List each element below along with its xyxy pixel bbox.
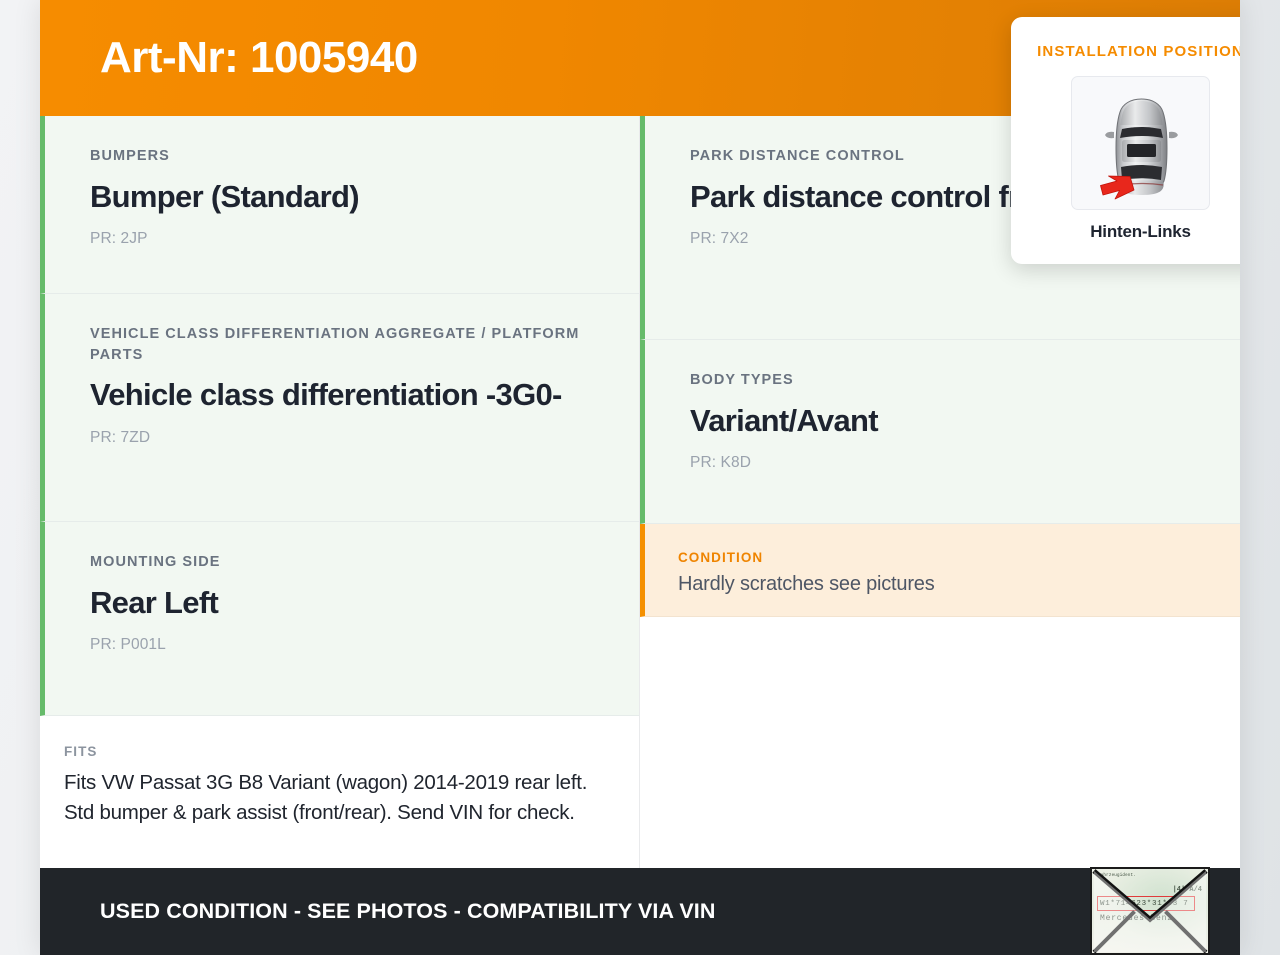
- spec-label: VEHICLE CLASS DIFFERENTIATION AGGREGATE …: [90, 324, 611, 365]
- listing-panel: Art-Nr: 1005940 BUMPERS Bumper (Standard…: [40, 0, 1240, 955]
- car-top-view-icon: [1072, 77, 1211, 211]
- condition-text: Hardly scratches see pictures: [678, 573, 1212, 596]
- fits-text: Fits VW Passat 3G B8 Variant (wagon) 201…: [64, 768, 599, 829]
- spec-value: Bumper (Standard): [90, 176, 611, 219]
- installation-position-caption: Hinten-Links: [1090, 222, 1191, 242]
- condition-card: CONDITION Hardly scratches see pictures: [640, 524, 1240, 617]
- spec-pr-code: PR: K8D: [690, 454, 1212, 472]
- spec-card-mounting-side: MOUNTING SIDE Rear Left PR: P001L: [40, 522, 639, 716]
- spec-column-left: BUMPERS Bumper (Standard) PR: 2JP VEHICL…: [40, 116, 640, 868]
- condition-label: CONDITION: [678, 550, 1212, 565]
- envelope-icon: [1092, 869, 1208, 954]
- left-column-filler: [40, 859, 639, 868]
- footer-text: USED CONDITION - SEE PHOTOS - COMPATIBIL…: [40, 899, 716, 924]
- footer-bar: USED CONDITION - SEE PHOTOS - COMPATIBIL…: [40, 868, 1240, 955]
- installation-position-card[interactable]: INSTALLATION POSITION: [1011, 17, 1240, 264]
- vehicle-document-thumbnail[interactable]: Fahrzeugident. |4| A/4 W1*714623*31*03 7…: [1090, 867, 1210, 955]
- spec-value: Rear Left: [90, 582, 611, 625]
- spec-value: Variant/Avant: [690, 400, 1212, 443]
- spec-card-bumpers: BUMPERS Bumper (Standard) PR: 2JP: [40, 116, 639, 294]
- spec-label: MOUNTING SIDE: [90, 552, 611, 573]
- spec-card-body-types: BODY TYPES Variant/Avant PR: K8D: [640, 340, 1240, 524]
- red-arrow-icon: [1101, 176, 1135, 199]
- spec-pr-code: PR: 2JP: [90, 230, 611, 248]
- spec-value: Vehicle class differentiation -3G0-: [90, 374, 611, 417]
- spec-pr-code: PR: 7ZD: [90, 429, 611, 447]
- right-column-filler: [640, 617, 1240, 868]
- spec-label: BUMPERS: [90, 146, 611, 167]
- page-title: Art-Nr: 1005940: [40, 36, 418, 80]
- installation-position-title: INSTALLATION POSITION: [1037, 43, 1240, 60]
- spec-card-vehicle-class: VEHICLE CLASS DIFFERENTIATION AGGREGATE …: [40, 294, 639, 522]
- fits-section: FITS Fits VW Passat 3G B8 Variant (wagon…: [40, 716, 639, 859]
- fits-label: FITS: [64, 744, 599, 759]
- installation-position-image: [1071, 76, 1210, 210]
- spec-pr-code: PR: P001L: [90, 636, 611, 654]
- spec-label: BODY TYPES: [690, 370, 1212, 391]
